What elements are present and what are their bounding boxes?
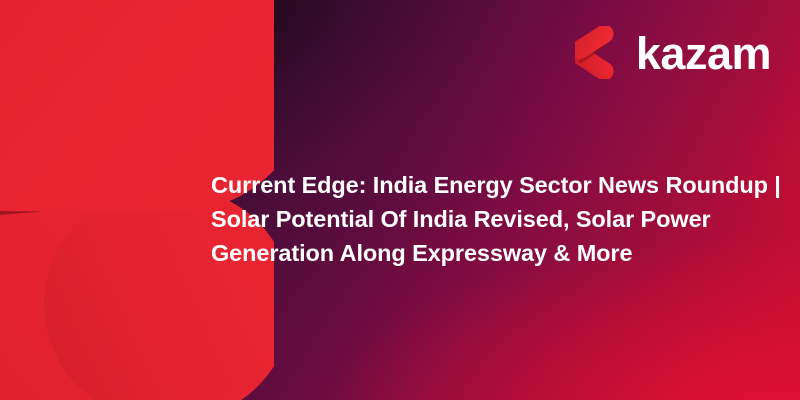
headline-line-3: Generation Along Expressway & More — [211, 236, 767, 270]
article-banner: kazam Current Edge: India Energy Sector … — [0, 0, 800, 400]
kazam-wordmark: kazam — [636, 31, 771, 76]
headline-line-2: Solar Potential Of India Revised, Solar … — [211, 202, 767, 236]
kazam-chevron-logo-icon — [575, 26, 625, 79]
kazam-logo-lockup: kazam — [575, 26, 771, 79]
headline-line-1: Current Edge: India Energy Sector News R… — [211, 168, 767, 202]
banner-headline: Current Edge: India Energy Sector News R… — [211, 168, 767, 270]
